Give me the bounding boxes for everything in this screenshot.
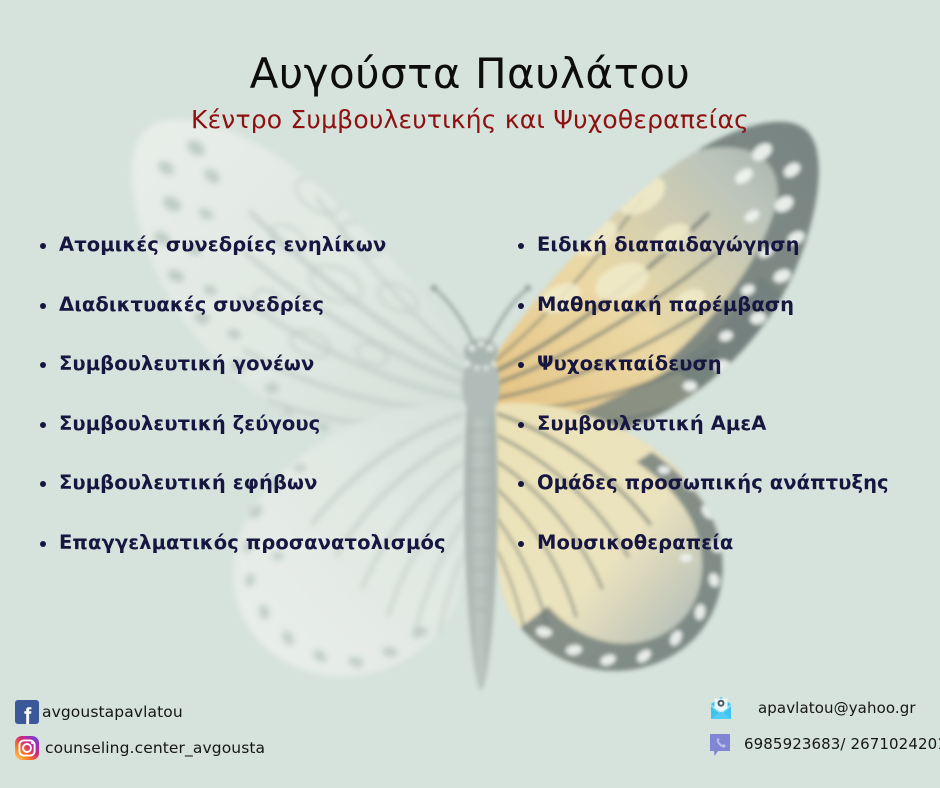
list-item-label: Επαγγελματικός προσανατολισμός xyxy=(59,531,446,554)
services-right-column: Ειδική διαπαιδαγώγηση Μαθησιακή παρέμβασ… xyxy=(500,232,940,589)
page-subtitle: Κέντρο Συμβουλευτικής και Ψυχοθεραπείας xyxy=(0,106,940,134)
list-item: Συμβουλευτική ζεύγους xyxy=(36,411,500,437)
page-title: Αυγούστα Παυλάτου xyxy=(0,52,940,96)
email-address[interactable]: apavlatou@yahoo.gr xyxy=(758,699,916,717)
services-list-left: Ατομικές συνεδρίες ενηλίκων Διαδικτυακές… xyxy=(36,232,500,556)
list-item-label: Συμβουλευτική εφήβων xyxy=(59,471,317,494)
list-item-label: Διαδικτυακές συνεδρίες xyxy=(59,293,324,316)
list-item: Ατομικές συνεδρίες ενηλίκων xyxy=(36,232,500,258)
list-item: Συμβουλευτική εφήβων xyxy=(36,470,500,496)
bullet-icon xyxy=(518,303,524,309)
facebook-icon[interactable] xyxy=(14,699,40,725)
bullet-icon xyxy=(40,422,46,428)
list-item: Επαγγελματικός προσανατολισμός xyxy=(36,530,500,556)
bullet-icon xyxy=(518,481,524,487)
list-item-label: Ψυχοεκπαίδευση xyxy=(537,352,722,375)
bullet-icon xyxy=(40,541,46,547)
instagram-handle[interactable]: counseling.center_avgousta xyxy=(45,739,265,757)
poster-canvas: Αυγούστα Παυλάτου Κέντρο Συμβουλευτικής … xyxy=(0,0,940,788)
social-contacts: avgoustapavlatou xyxy=(14,696,265,768)
list-item: Ειδική διαπαιδαγώγηση xyxy=(514,232,940,258)
list-item: Ομάδες προσωπικής ανάπτυξης xyxy=(514,470,940,496)
bullet-icon xyxy=(518,243,524,249)
bullet-icon xyxy=(518,362,524,368)
list-item: Ψυχοεκπαίδευση xyxy=(514,351,940,377)
list-item: Μουσικοθεραπεία xyxy=(514,530,940,556)
facebook-contact-row[interactable]: avgoustapavlatou xyxy=(14,696,265,728)
list-item-label: Μαθησιακή παρέμβαση xyxy=(537,293,794,316)
list-item-label: Συμβουλευτική ΑμεΑ xyxy=(537,412,766,435)
direct-contacts: apavlatou@yahoo.gr 6985923683/ 267102420… xyxy=(706,692,940,764)
services-list-right: Ειδική διαπαιδαγώγηση Μαθησιακή παρέμβασ… xyxy=(514,232,940,556)
bullet-icon xyxy=(40,303,46,309)
list-item-label: Μουσικοθεραπεία xyxy=(537,531,733,554)
bullet-icon xyxy=(518,422,524,428)
contact-footer: avgoustapavlatou xyxy=(0,688,940,780)
list-item: Διαδικτυακές συνεδρίες xyxy=(36,292,500,318)
list-item-label: Ατομικές συνεδρίες ενηλίκων xyxy=(59,233,386,256)
list-item-label: Ειδική διαπαιδαγώγηση xyxy=(537,233,800,256)
phone-bubble-icon[interactable] xyxy=(706,730,734,758)
list-item-label: Συμβουλευτική γονέων xyxy=(59,352,314,375)
email-contact-row[interactable]: apavlatou@yahoo.gr xyxy=(706,692,940,724)
phone-numbers[interactable]: 6985923683/ 2671024201 xyxy=(744,735,940,753)
list-item: Μαθησιακή παρέμβαση xyxy=(514,292,940,318)
bullet-icon xyxy=(40,243,46,249)
poster-header: Αυγούστα Παυλάτου Κέντρο Συμβουλευτικής … xyxy=(0,0,940,134)
services-section: Ατομικές συνεδρίες ενηλίκων Διαδικτυακές… xyxy=(0,232,940,589)
list-item: Συμβουλευτική ΑμεΑ xyxy=(514,411,940,437)
list-item-label: Ομάδες προσωπικής ανάπτυξης xyxy=(537,471,889,494)
instagram-icon[interactable] xyxy=(14,735,40,761)
envelope-icon[interactable] xyxy=(706,693,736,723)
list-item-label: Συμβουλευτική ζεύγους xyxy=(59,412,320,435)
list-item: Συμβουλευτική γονέων xyxy=(36,351,500,377)
services-left-column: Ατομικές συνεδρίες ενηλίκων Διαδικτυακές… xyxy=(0,232,500,589)
phone-contact-row[interactable]: 6985923683/ 2671024201 xyxy=(706,728,940,760)
instagram-contact-row[interactable]: counseling.center_avgousta xyxy=(14,732,265,764)
bullet-icon xyxy=(518,541,524,547)
bullet-icon xyxy=(40,481,46,487)
bullet-icon xyxy=(40,362,46,368)
facebook-handle[interactable]: avgoustapavlatou xyxy=(42,703,183,721)
